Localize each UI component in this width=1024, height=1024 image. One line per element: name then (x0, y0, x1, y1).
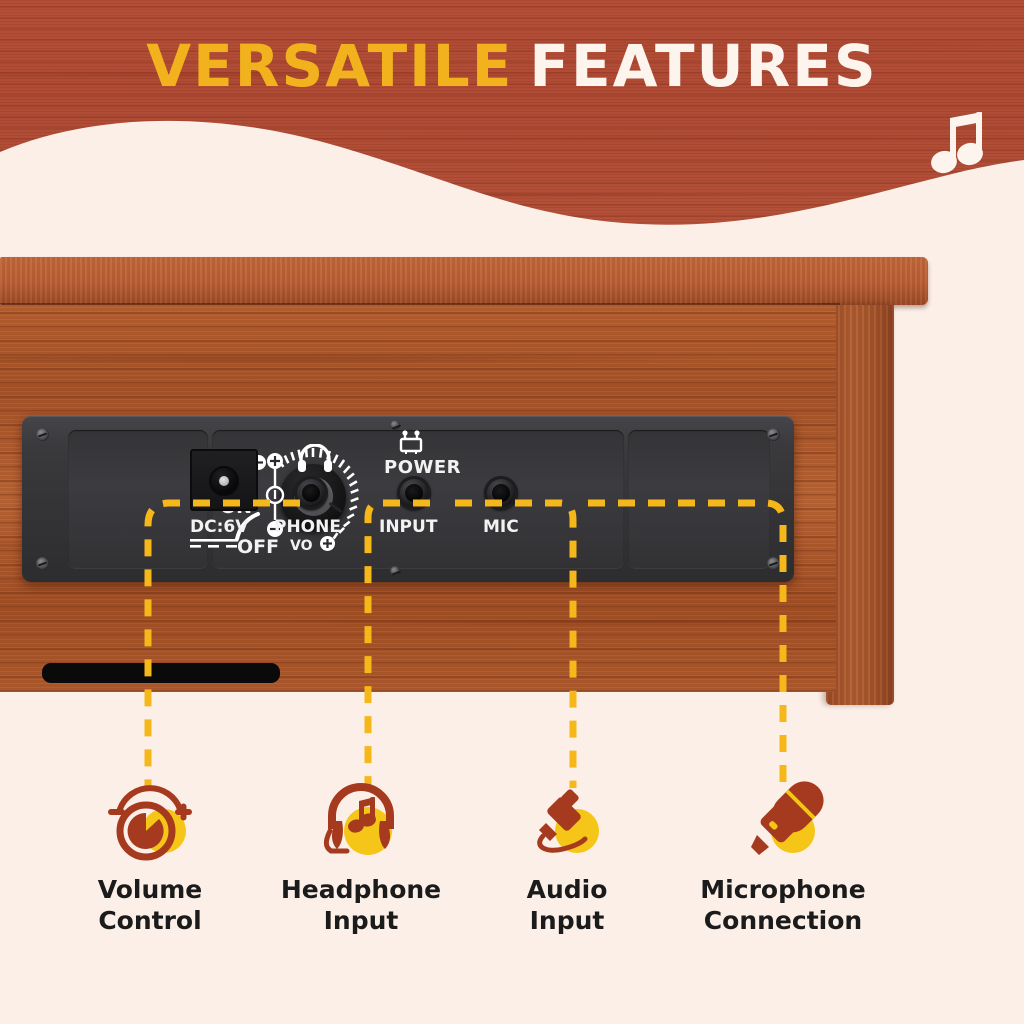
product-photo: VOL ON OFF VO (0, 250, 930, 695)
vo-label: VO (290, 538, 313, 554)
feature-label-microphone: Microphone Connection (668, 875, 898, 936)
headphones-music-icon (246, 775, 476, 863)
mic-jack[interactable] (484, 476, 518, 510)
audio-plug-icon (452, 775, 682, 863)
feature-volume-control: Volume Control (35, 775, 265, 936)
phone-jack[interactable] (294, 476, 328, 510)
feature-label-volume: Volume Control (35, 875, 265, 936)
dc-current-icon (190, 538, 242, 550)
feature-microphone-connection: Microphone Connection (668, 775, 898, 936)
dc-power-jack[interactable] (190, 449, 258, 511)
feature-list: Volume Control (0, 775, 1024, 975)
header-banner: VERSATILEFEATURES (0, 0, 1024, 250)
volume-knob-icon (35, 775, 265, 863)
control-panel[interactable]: VOL ON OFF VO (22, 416, 794, 582)
headphone-icon (297, 444, 333, 472)
page-title: VERSATILEFEATURES (0, 32, 1024, 100)
volume-plus-icon (319, 535, 336, 552)
cabinet-top-rail (0, 257, 928, 305)
panel-screw-bottom-left (36, 557, 49, 570)
header-wave-divider (0, 100, 1024, 250)
panel-screw-top-right (767, 428, 780, 441)
cabinet-side-panel (826, 305, 894, 705)
panel-screw-bottom-center (390, 566, 400, 576)
power-plug-icon (394, 430, 428, 456)
feature-label-headphone: Headphone Input (246, 875, 476, 936)
title-word-features: FEATURES (529, 32, 877, 100)
feature-label-audio: Audio Input (452, 875, 682, 936)
panel-screw-top-left (36, 428, 49, 441)
power-label: POWER (384, 457, 461, 478)
infographic-canvas: VERSATILEFEATURES (0, 0, 1024, 1024)
title-word-versatile: VERSATILE (146, 32, 513, 100)
microphone-icon (668, 775, 898, 863)
panel-screw-bottom-right (767, 557, 780, 570)
speaker-vent-bottom (42, 663, 280, 683)
feature-headphone-input: Headphone Input (246, 775, 476, 936)
panel-recess-right (628, 430, 770, 568)
panel-recess-left (68, 430, 208, 568)
phone-label: PHONE (274, 517, 341, 537)
dc-voltage-label: DC:6V (190, 517, 248, 537)
feature-audio-input: Audio Input (452, 775, 682, 936)
mic-label: MIC (483, 517, 519, 537)
panel-screw-top-center (390, 420, 400, 430)
input-jack[interactable] (397, 476, 431, 510)
input-label: INPUT (379, 517, 437, 537)
dc-jack-pin (209, 466, 239, 496)
music-note-icon (920, 106, 996, 182)
